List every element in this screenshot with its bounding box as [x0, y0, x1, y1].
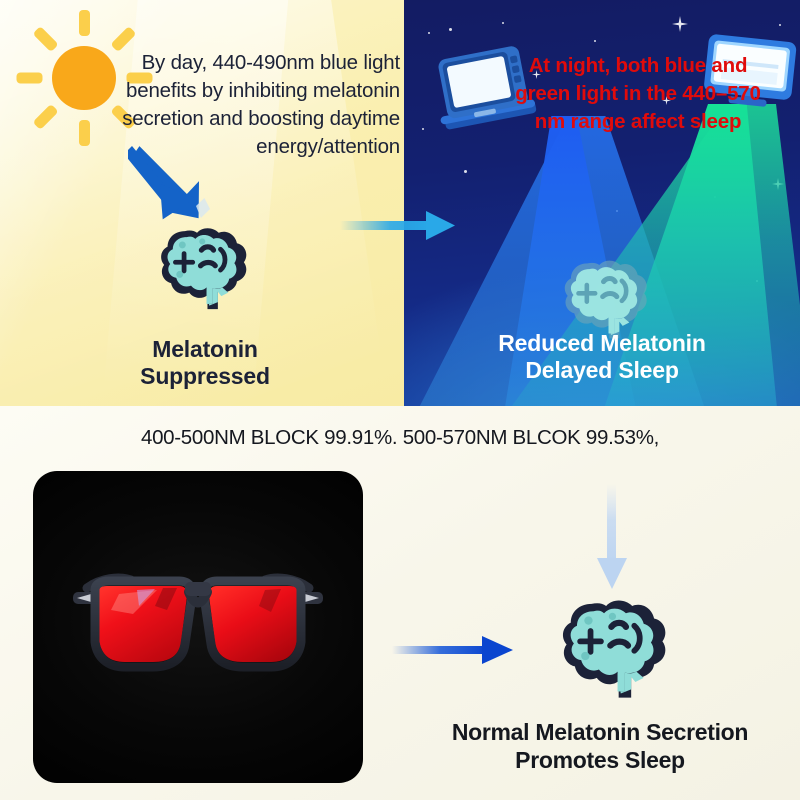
- night-body-text: At night, both blue and green light in t…: [502, 52, 774, 136]
- star-icon: [422, 128, 424, 130]
- star-sparkle-icon: [672, 16, 688, 32]
- infographic-root: By day, 440-490nm blue light benefits by…: [0, 0, 800, 800]
- solution-panel: 400-500NM BLOCK 99.91%. 500-570NM BLCOK …: [0, 406, 800, 800]
- night-panel: At night, both blue and green light in t…: [404, 0, 800, 406]
- sun-core: [52, 46, 116, 110]
- block-percentage-text: 400-500NM BLOCK 99.91%. 500-570NM BLCOK …: [0, 426, 800, 450]
- night-label-line1: Reduced Melatonin: [498, 330, 705, 356]
- brain-icon: [152, 212, 256, 316]
- star-icon: [779, 24, 781, 26]
- arrow-down-icon: [592, 484, 632, 592]
- star-sparkle-icon: [772, 178, 784, 190]
- star-sparkle-icon: [554, 144, 562, 152]
- solution-label-line2: Promotes Sleep: [515, 747, 685, 773]
- brain-icon: [552, 581, 677, 706]
- star-icon: [502, 22, 504, 24]
- arrow-right-icon: [392, 632, 517, 668]
- star-icon: [594, 40, 596, 42]
- solution-label: Normal Melatonin Secretion Promotes Slee…: [400, 718, 800, 774]
- star-icon: [714, 196, 716, 198]
- solution-label-line1: Normal Melatonin Secretion: [452, 719, 748, 745]
- day-label-line2: Suppressed: [140, 363, 270, 389]
- star-icon: [464, 170, 467, 173]
- star-icon: [428, 32, 430, 34]
- glasses-product-card: [33, 471, 363, 783]
- night-label: Reduced Melatonin Delayed Sleep: [422, 330, 782, 384]
- star-icon: [449, 28, 452, 31]
- blue-light-glasses-icon: [67, 566, 329, 676]
- night-label-line2: Delayed Sleep: [525, 357, 678, 383]
- arrow-right-icon: [340, 205, 460, 245]
- star-icon: [756, 280, 758, 282]
- day-label: Melatonin Suppressed: [60, 336, 350, 390]
- day-panel: By day, 440-490nm blue light benefits by…: [0, 0, 404, 406]
- day-label-line1: Melatonin: [152, 336, 258, 362]
- top-row: By day, 440-490nm blue light benefits by…: [0, 0, 800, 406]
- star-icon: [616, 210, 618, 212]
